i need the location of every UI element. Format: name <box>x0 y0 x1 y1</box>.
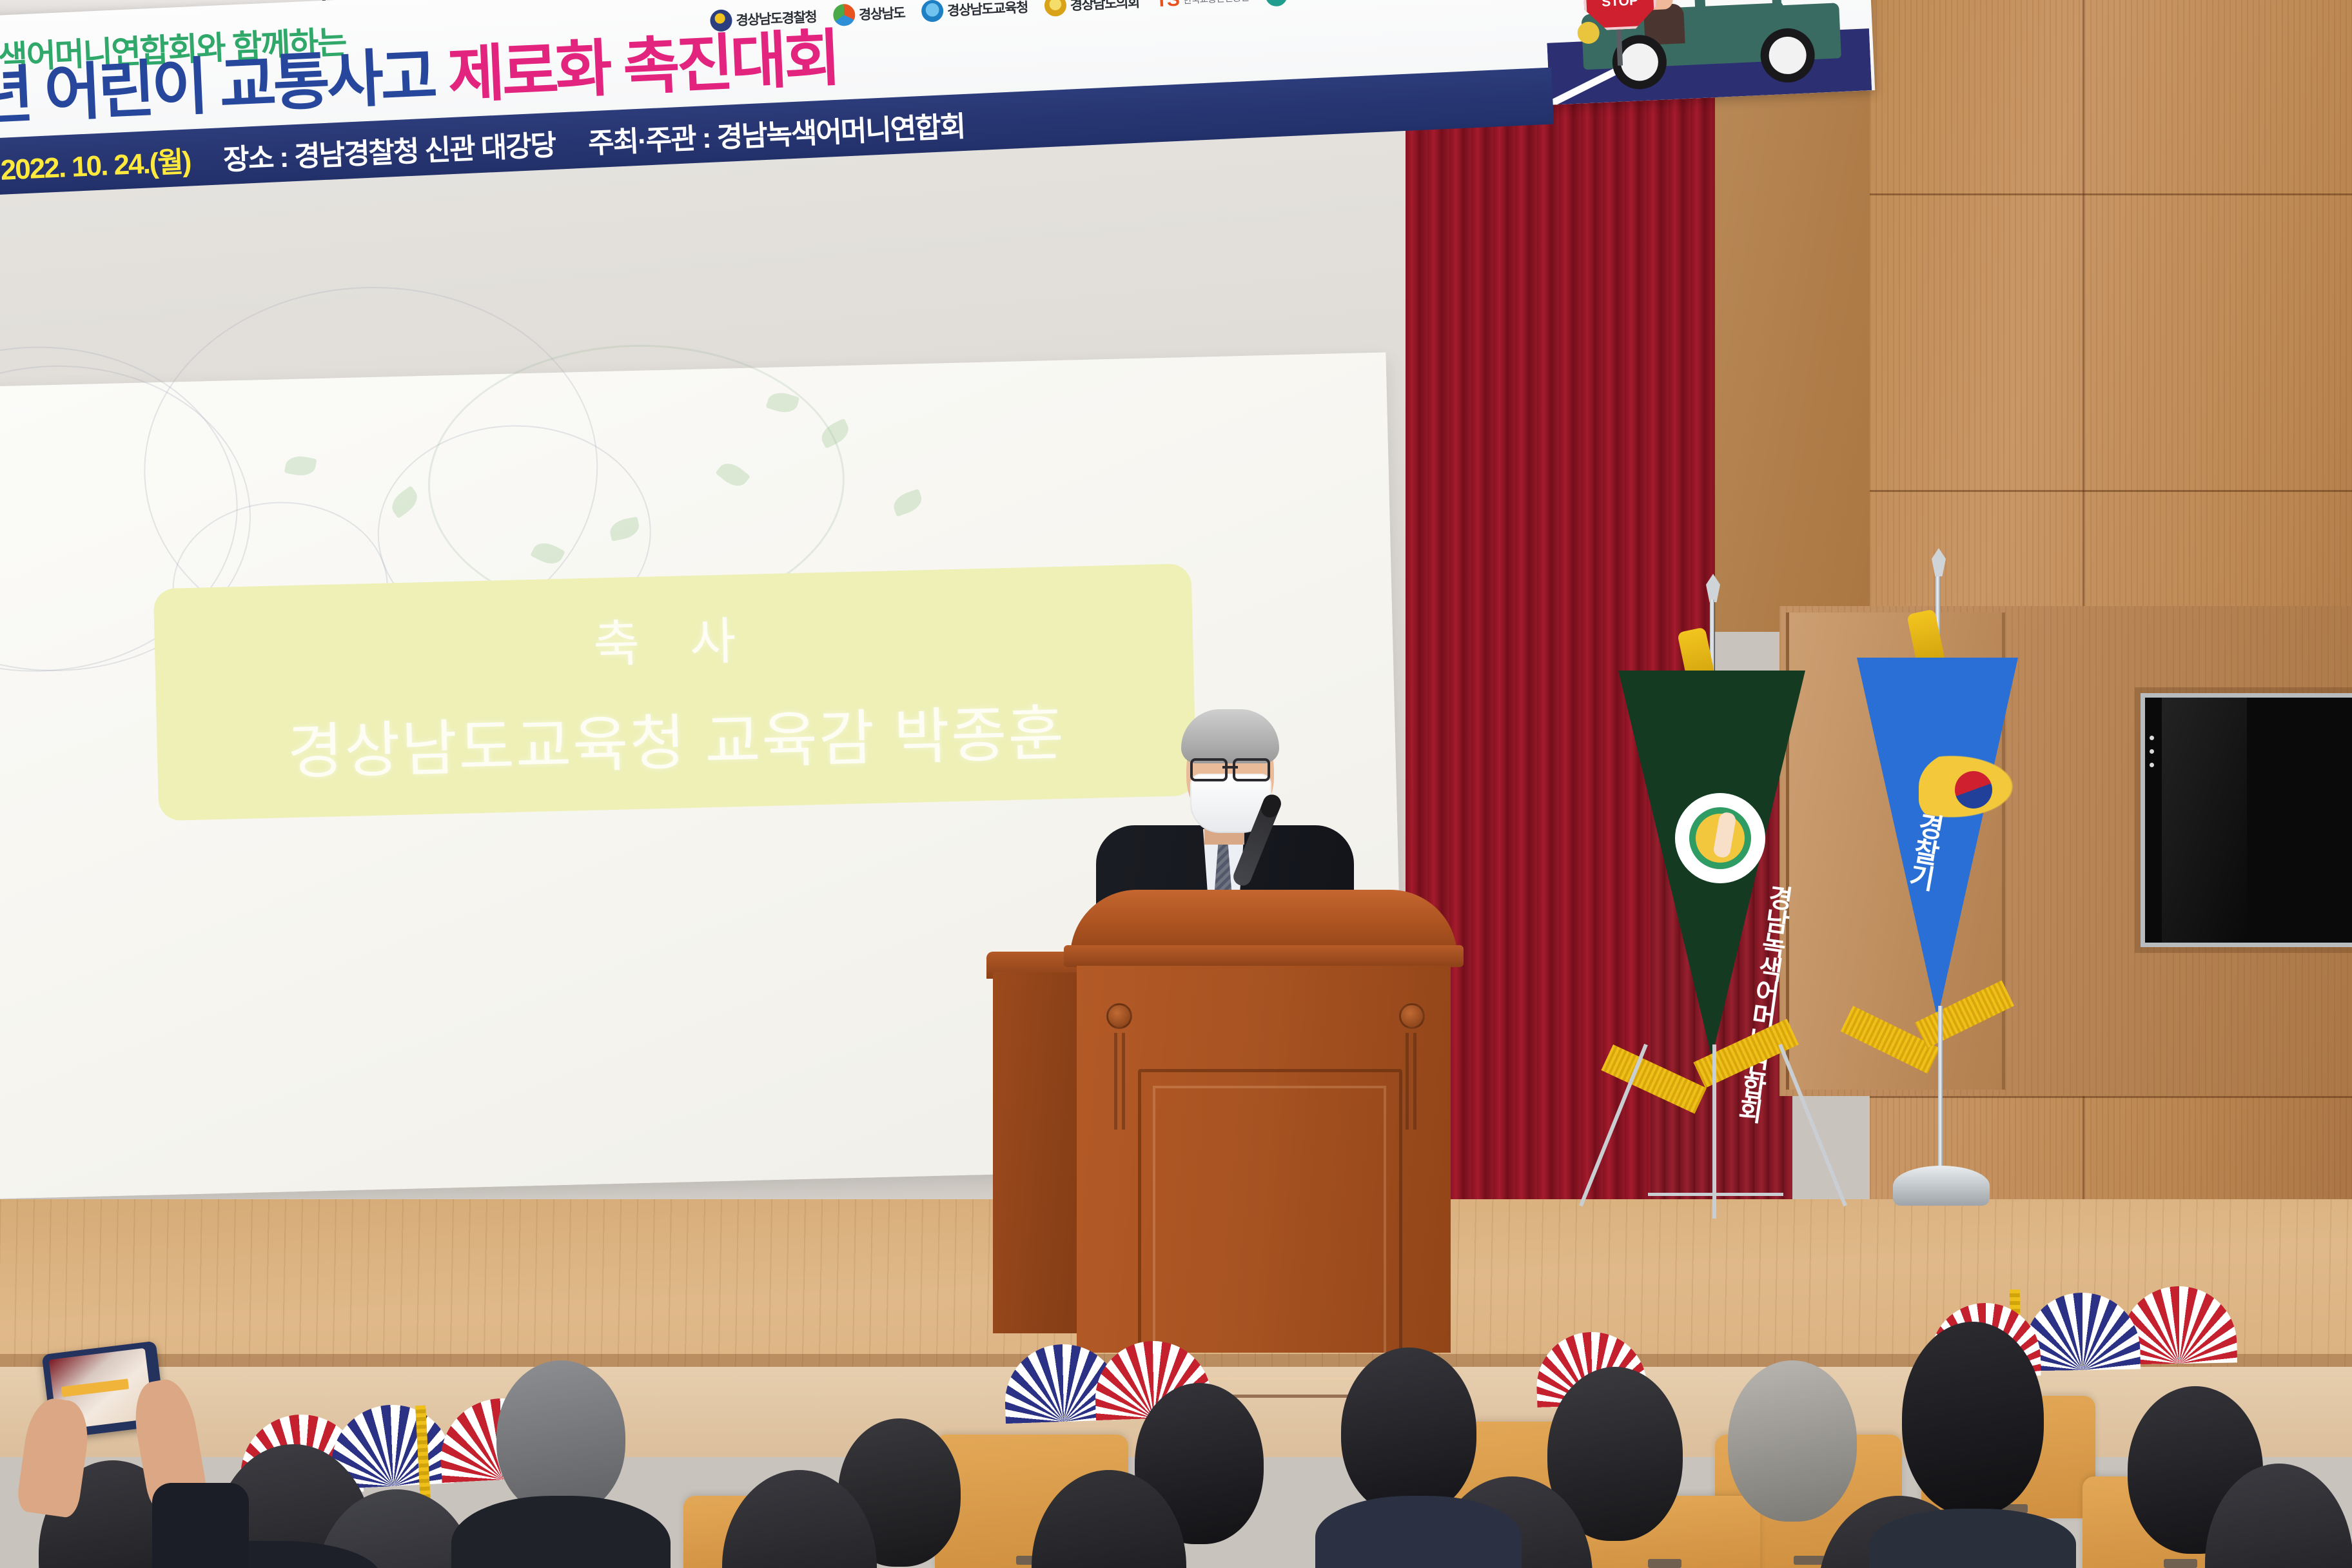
audience-arm-sleeve <box>152 1483 249 1568</box>
eyeglasses-icon <box>1190 758 1270 778</box>
sponsor-logo: TS한국교통안전공단 <box>1155 0 1249 12</box>
taeguk-icon <box>1955 771 1992 808</box>
ts-mark: TS <box>1155 0 1180 12</box>
sponsor-logo: 경상남도교육청 <box>921 0 1028 23</box>
audience-shoulder <box>451 1496 671 1568</box>
audience-shoulder <box>1870 1509 2076 1568</box>
host-value: 경남녹색어머니연합회 <box>716 111 966 153</box>
host-label: 주최·주관 : <box>587 122 710 160</box>
sponsor-logo: 경상남도 <box>832 1 905 26</box>
sponsor-label: 경상남도 <box>858 3 905 24</box>
sponsor-logo: 도로교통공단 울산·경남지부 <box>1265 0 1436 7</box>
audience-head <box>1902 1322 2044 1515</box>
audience-head <box>496 1360 625 1515</box>
wall-monitor <box>2141 693 2352 947</box>
slide-title-box: 축 사 경상남도교육청 교육감 박종훈 <box>153 563 1197 821</box>
flag-green: 경남녹색어머니연합회 <box>1605 600 1825 1219</box>
slide-subheading: 경상남도교육청 교육감 박종훈 <box>286 685 1066 791</box>
traffic-safety-illustration: 정지 STOP <box>1543 0 1872 105</box>
photo-scene: 녹색어머니연합회와 함께하는 2년 어린이 교통사고 제로화 촉진대회 경상남도… <box>0 0 2352 1568</box>
sponsor-label: 경상남도교육청 <box>946 0 1028 20</box>
emblem-icon <box>1044 0 1067 17</box>
audience-shoulder <box>1315 1496 1522 1568</box>
sponsor-label: 도로교통공단 울산·경남지부 <box>1291 0 1436 5</box>
sponsor-label: 경상남도경찰청 <box>736 6 817 30</box>
emblem-icon <box>710 9 733 32</box>
slide-heading: 축 사 <box>593 601 755 677</box>
event-date: 2022. 10. 24.(월) <box>0 146 191 186</box>
sponsor-label: 한국교통안전공단 <box>1182 0 1249 6</box>
audience-section <box>0 1283 2352 1568</box>
emblem-icon <box>1265 0 1288 7</box>
place-label: 장소 : <box>222 142 288 176</box>
sponsor-logo: 경상남도의회 <box>1044 0 1139 17</box>
emblem-icon <box>921 0 944 23</box>
sponsor-label: 경상남도의회 <box>1070 0 1139 14</box>
speaker-hair <box>1181 709 1279 763</box>
flag-base <box>1893 1166 1990 1206</box>
emblem-icon <box>832 4 856 27</box>
place-value: 경남경찰청 신관 대강당 <box>293 130 556 173</box>
audience-head <box>1728 1360 1857 1522</box>
flag-police: 경찰기 <box>1857 580 2050 1199</box>
audience-head <box>1341 1347 1476 1515</box>
stop-sign-english: STOP <box>1602 0 1639 10</box>
